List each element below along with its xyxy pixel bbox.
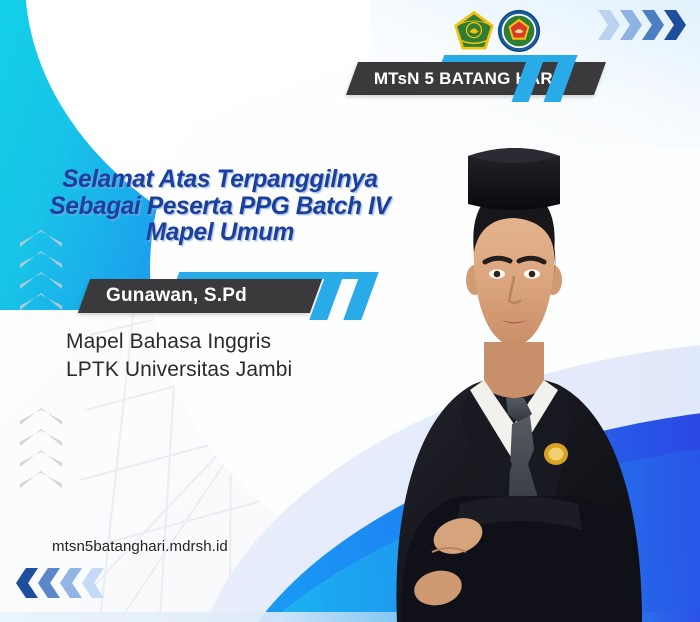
arrow-right-icon-3 [642, 10, 664, 40]
website-url[interactable]: mtsn5batanghari.mdrsh.id [52, 538, 228, 555]
chevron-decoration-lower [20, 408, 62, 488]
headline-text: Selamat Atas Terpanggilnya Sebagai Peser… [7, 166, 434, 246]
recipient-detail-line-1: Mapel Bahasa Inggris [66, 328, 292, 356]
chevron-up-icon [20, 272, 62, 289]
headline-line-3: Mapel Umum [7, 219, 434, 246]
chevron-decoration-upper [20, 230, 62, 310]
recipient-details: Mapel Bahasa Inggris LPTK Universitas Ja… [66, 328, 292, 383]
arrow-right-icon-2 [620, 10, 642, 40]
chevron-up-icon [20, 293, 62, 310]
school-logo-icon [497, 9, 541, 53]
arrow-left-icon-1 [16, 568, 38, 598]
recipient-name-label: Gunawan, S.Pd [84, 285, 247, 307]
chevron-up-icon [20, 230, 62, 247]
arrow-left-icon-2 [38, 568, 60, 598]
poster-canvas: MTsN 5 BATANG HARI Selamat Atas Terpangg… [0, 0, 700, 622]
arrow-group-bottom-left [16, 568, 104, 598]
arrow-right-icon-4 [664, 10, 686, 40]
lapel-pin-inner [549, 448, 564, 461]
arrow-right-icon-1 [598, 10, 620, 40]
chevron-up-icon [20, 429, 62, 446]
recipient-name-banner: Gunawan, S.Pd [78, 279, 322, 313]
kemenag-logo-icon [452, 9, 496, 53]
neck [484, 342, 544, 398]
chevron-up-icon [20, 450, 62, 467]
headline-line-1: Selamat Atas Terpanggilnya [7, 166, 434, 193]
recipient-detail-line-2: LPTK Universitas Jambi [66, 356, 292, 384]
chevron-up-icon [20, 408, 62, 425]
header-banner-accent-bar [442, 55, 573, 62]
chevron-up-icon [20, 471, 62, 488]
arrow-left-icon-4 [82, 568, 104, 598]
arrow-group-top-right [598, 10, 686, 40]
headline-line-2: Sebagai Peserta PPG Batch IV [7, 193, 434, 220]
arrow-left-icon-3 [60, 568, 82, 598]
chevron-up-icon [20, 251, 62, 268]
